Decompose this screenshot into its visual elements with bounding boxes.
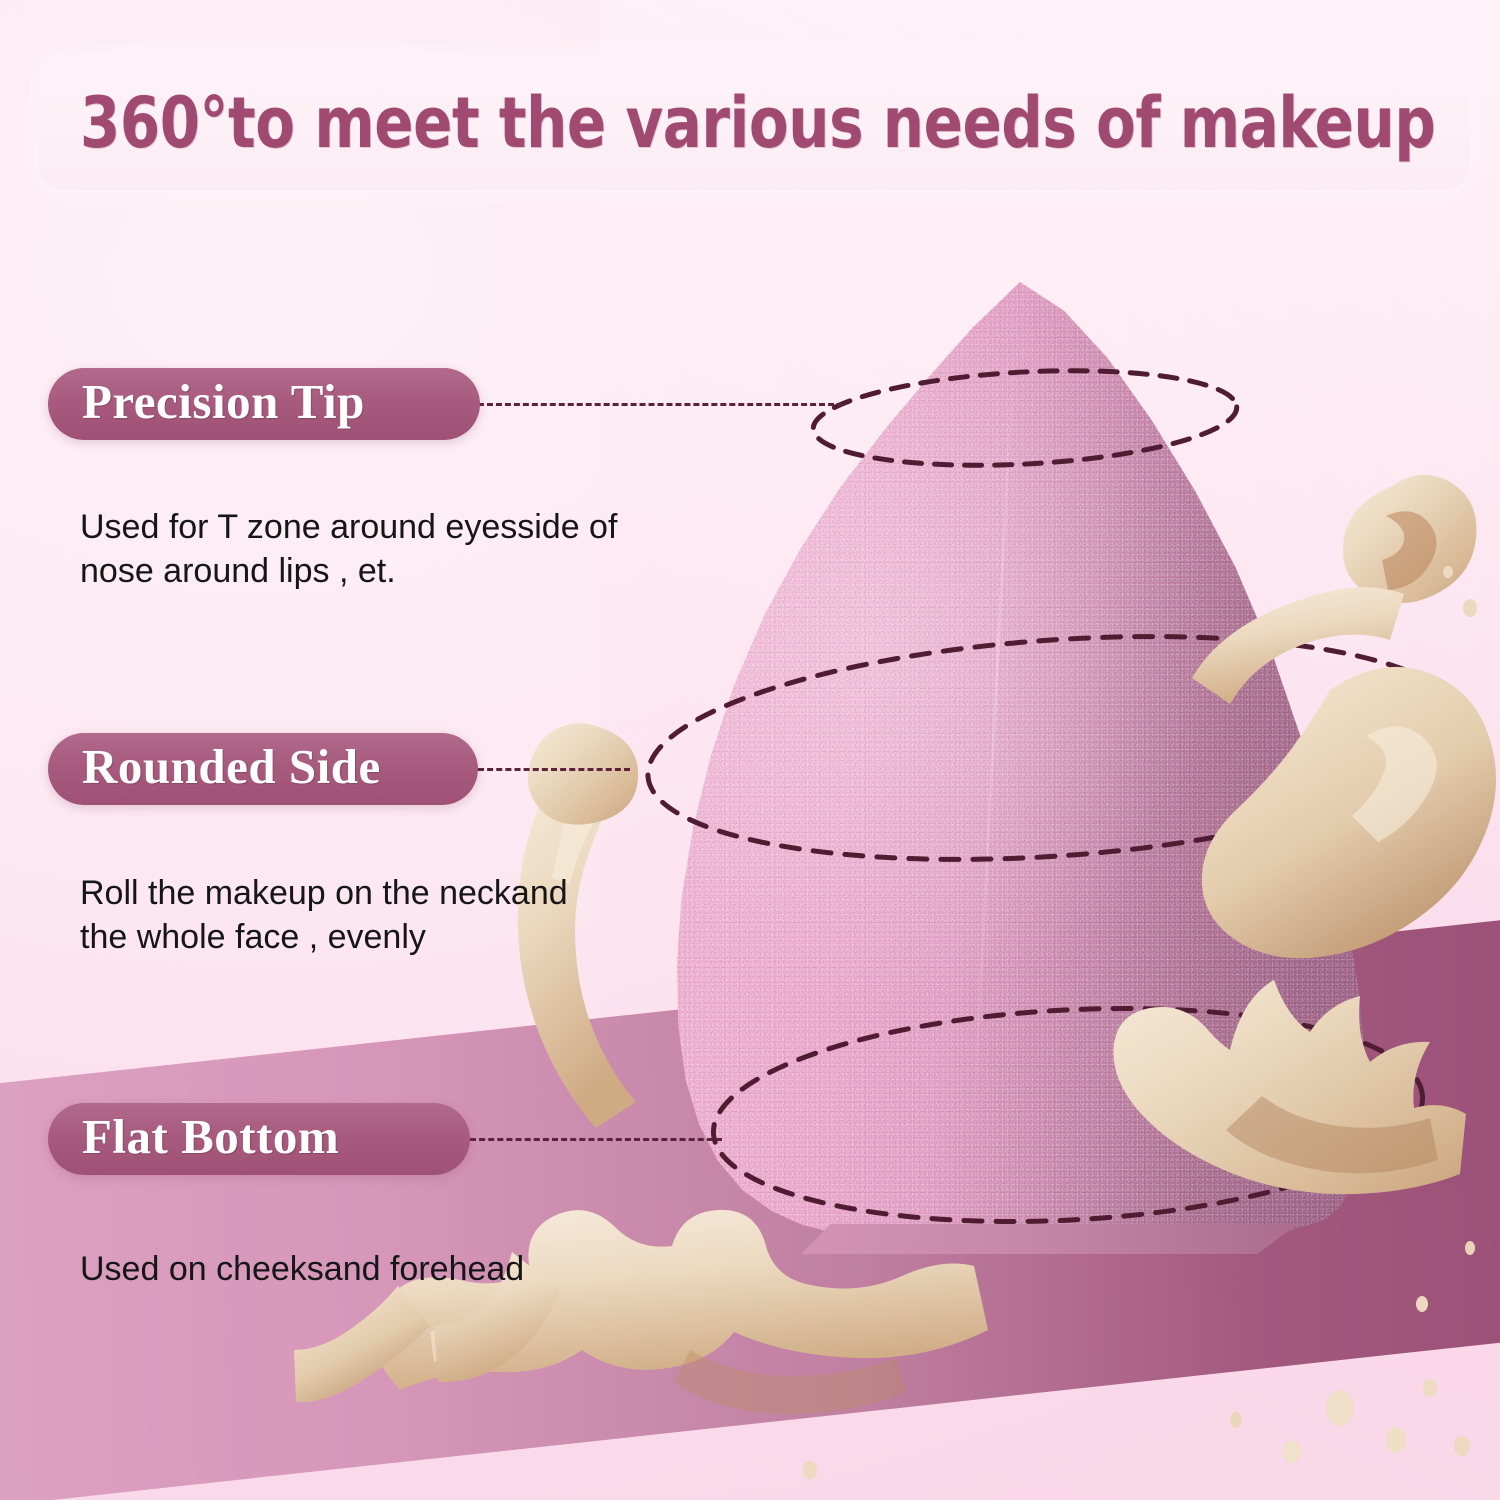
infographic-canvas: 360°to meet the various needs of makeup (0, 0, 1500, 1500)
page-title: 360°to meet the various needs of makeup (80, 68, 1331, 178)
sponge-flat-base (801, 1224, 1297, 1254)
feature-label-flat-bottom[interactable]: Flat Bottom (48, 1103, 470, 1175)
connector-line-rounded-side (478, 768, 630, 771)
feature-label-text: Precision Tip (82, 373, 365, 430)
connector-line-flat-bottom (470, 1138, 722, 1141)
feature-description-precision-tip: Used for T zone around eyesside of nose … (80, 506, 700, 593)
connector-line-precision-tip (478, 403, 843, 406)
feature-description-flat-bottom: Used on cheeksand forehead (80, 1248, 720, 1292)
sponge-body (655, 282, 1385, 1232)
makeup-sponge-image (655, 282, 1385, 1232)
feature-label-precision-tip[interactable]: Precision Tip (48, 368, 480, 440)
feature-label-text: Flat Bottom (82, 1108, 339, 1165)
sponge-texture-layer-2 (655, 282, 1385, 1232)
feature-label-text: Rounded Side (82, 738, 381, 795)
feature-label-rounded-side[interactable]: Rounded Side (48, 733, 478, 805)
feature-description-rounded-side: Roll the makeup on the neckand the whole… (80, 872, 700, 959)
